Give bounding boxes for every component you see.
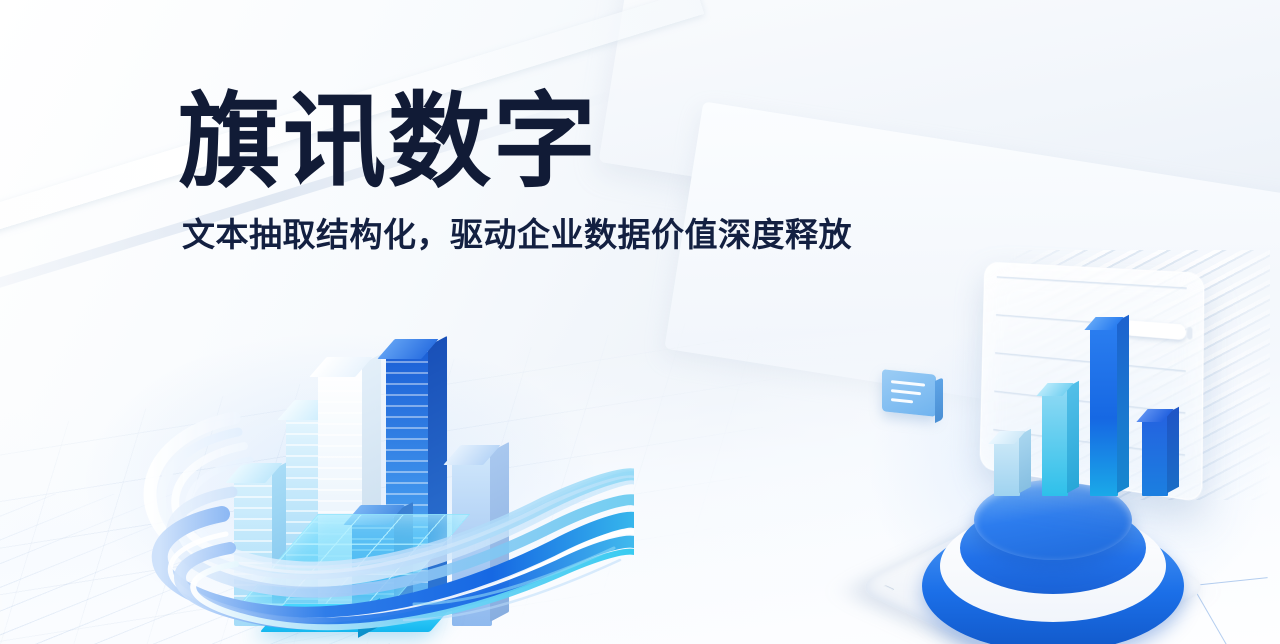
pedestal-screw-bl <box>883 585 895 590</box>
bar-chart <box>994 306 1204 496</box>
glass-city-illustration <box>96 296 566 626</box>
hero-banner: 旗讯数字 文本抽取结构化，驱动企业数据价值深度释放 <box>0 0 1280 644</box>
bar-2 <box>1042 390 1068 496</box>
bar-4 <box>1142 416 1168 496</box>
text-lines-card-icon <box>882 369 936 417</box>
page-subtitle: 文本抽取结构化，驱动企业数据价值深度释放 <box>182 217 852 253</box>
bar-3 <box>1090 324 1118 496</box>
text-line-2 <box>891 389 921 395</box>
page-title: 旗讯数字 <box>178 86 852 197</box>
text-line-3 <box>891 398 913 403</box>
bar-1 <box>994 438 1020 496</box>
data-flow-ribbon <box>114 352 634 644</box>
headline-block: 旗讯数字 文本抽取结构化，驱动企业数据价值深度释放 <box>178 86 852 254</box>
text-line-1 <box>891 380 925 387</box>
data-dashboard-illustration <box>848 252 1268 632</box>
text-lines-card-edge <box>935 377 943 423</box>
